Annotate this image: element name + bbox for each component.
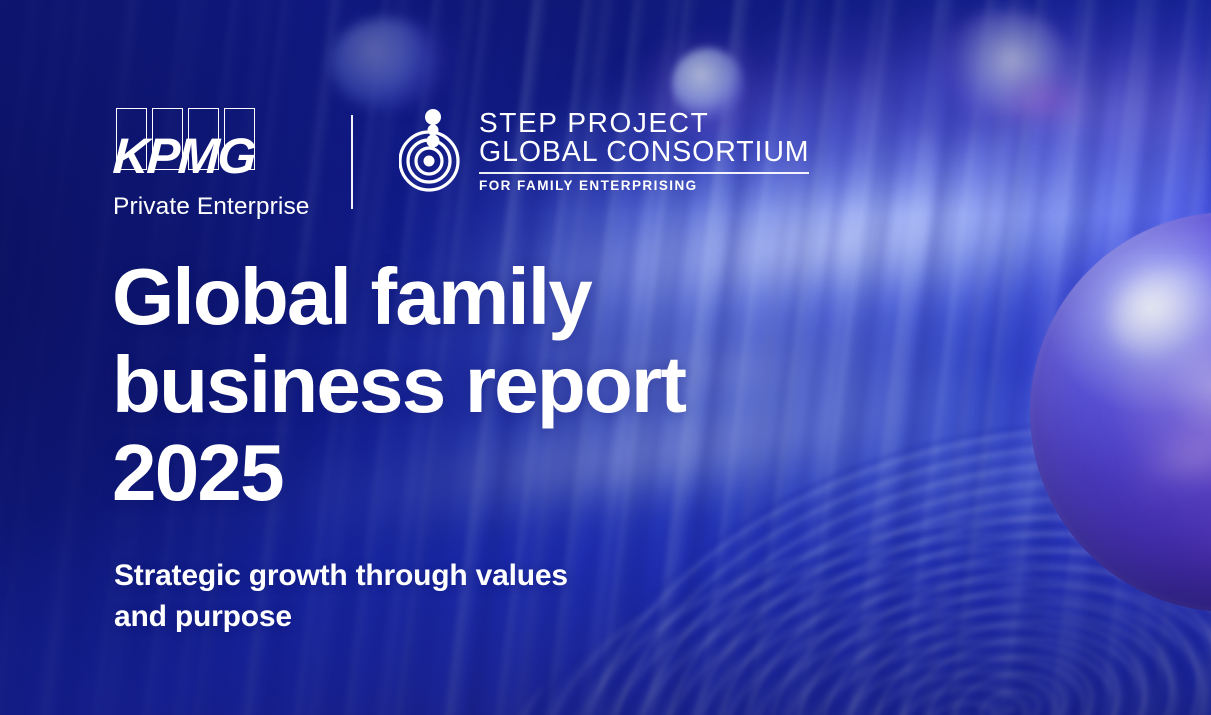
logo-divider — [351, 115, 353, 209]
kpmg-wordmark: KPMG — [112, 131, 315, 181]
step-logo-line3: FOR FAMILY ENTERPRISING — [479, 178, 809, 193]
step-concentric-rings-icon — [399, 108, 467, 194]
step-logo-text: STEP PROJECT GLOBAL CONSORTIUM FOR FAMIL… — [479, 109, 809, 193]
logo-lockup-row: KPMG Private Enterprise — [113, 104, 809, 220]
page-subtitle-line1: Strategic growth through values — [114, 555, 734, 596]
step-logo-line2: GLOBAL CONSORTIUM — [479, 138, 809, 167]
page-title: Global family business report 2025 — [112, 253, 772, 517]
kpmg-tagline: Private Enterprise — [113, 193, 313, 220]
kpmg-logo: KPMG Private Enterprise — [113, 104, 313, 220]
report-cover: KPMG Private Enterprise — [0, 0, 1211, 715]
cover-content: KPMG Private Enterprise — [0, 0, 1211, 715]
step-project-logo: STEP PROJECT GLOBAL CONSORTIUM FOR FAMIL… — [399, 108, 809, 194]
page-subtitle: Strategic growth through values and purp… — [114, 555, 734, 637]
step-logo-rule — [479, 172, 809, 174]
page-subtitle-line2: and purpose — [114, 596, 734, 637]
step-logo-line1: STEP PROJECT — [479, 109, 809, 138]
